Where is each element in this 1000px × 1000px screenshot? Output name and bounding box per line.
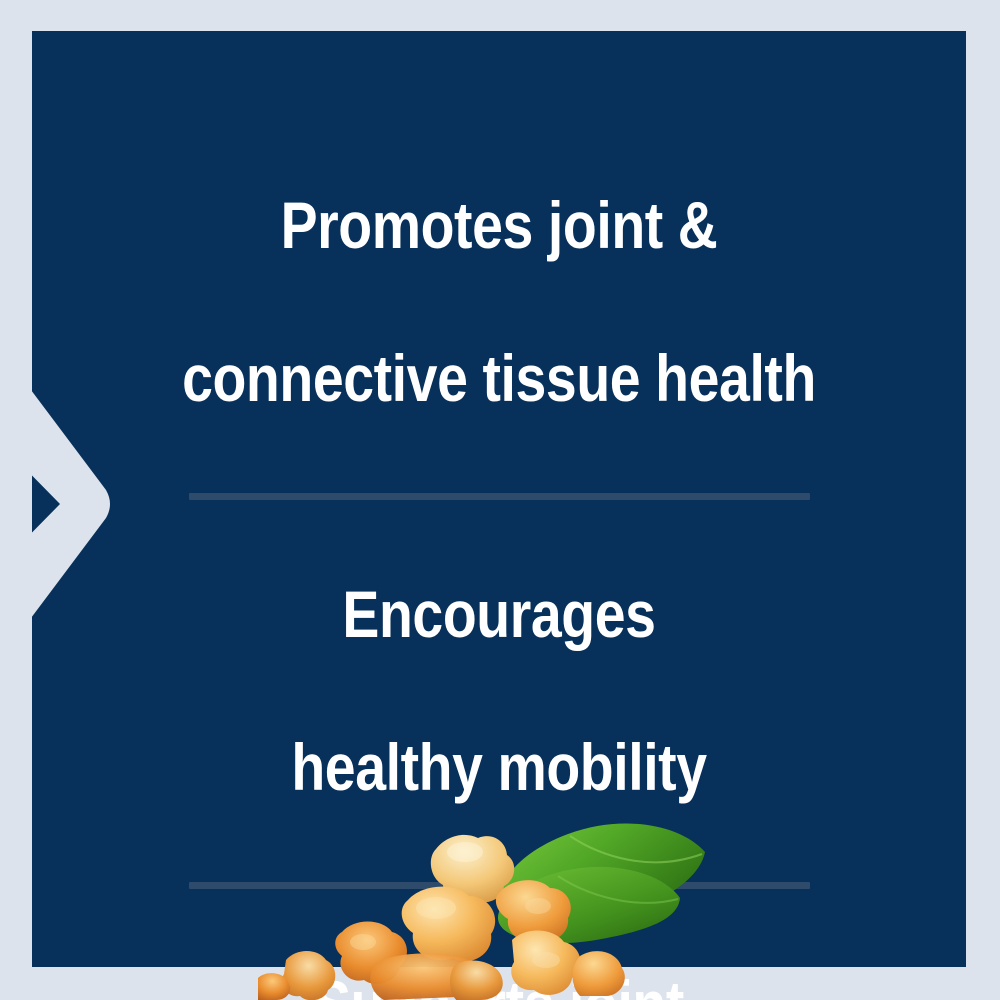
benefit-item-joint-comfort-function: Supports joint comfort & function [107,889,892,1000]
benefit-line: Encourages [107,576,892,653]
benefit-line: healthy mobility [107,729,892,806]
benefit-item-healthy-mobility: Encourages healthy mobility [107,500,892,883]
benefit-line: Promotes joint & [107,187,892,264]
benefit-item-joint-connective-tissue: Promotes joint & connective tissue healt… [107,110,892,493]
benefit-divider [189,882,810,889]
benefits-list: Promotes joint & connective tissue healt… [32,31,966,967]
benefit-divider [189,493,810,500]
benefit-line: Supports joint [107,966,892,1000]
benefit-line: connective tissue health [107,340,892,417]
benefits-infographic: Promotes joint & connective tissue healt… [0,0,1000,1000]
